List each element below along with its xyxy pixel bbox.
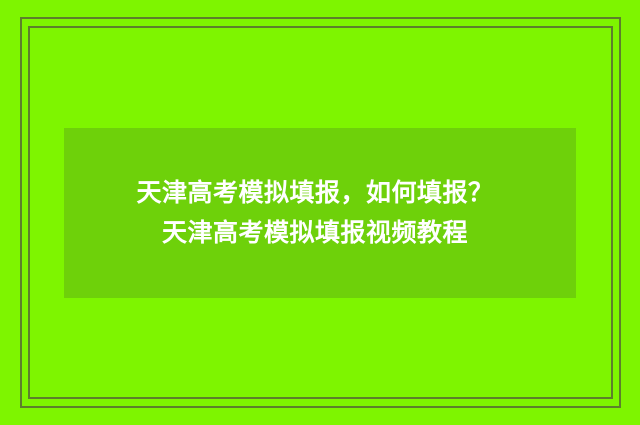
title-block: 天津高考模拟填报，如何填报？ 天津高考模拟填报视频教程 (59, 173, 571, 253)
banner-graphic: 天津高考模拟填报，如何填报？ 天津高考模拟填报视频教程 (0, 0, 640, 425)
title-panel: 天津高考模拟填报，如何填报？ 天津高考模拟填报视频教程 (64, 128, 576, 298)
title-line-1: 天津高考模拟填报，如何填报？ (59, 173, 571, 213)
title-line-2: 天津高考模拟填报视频教程 (59, 213, 571, 253)
